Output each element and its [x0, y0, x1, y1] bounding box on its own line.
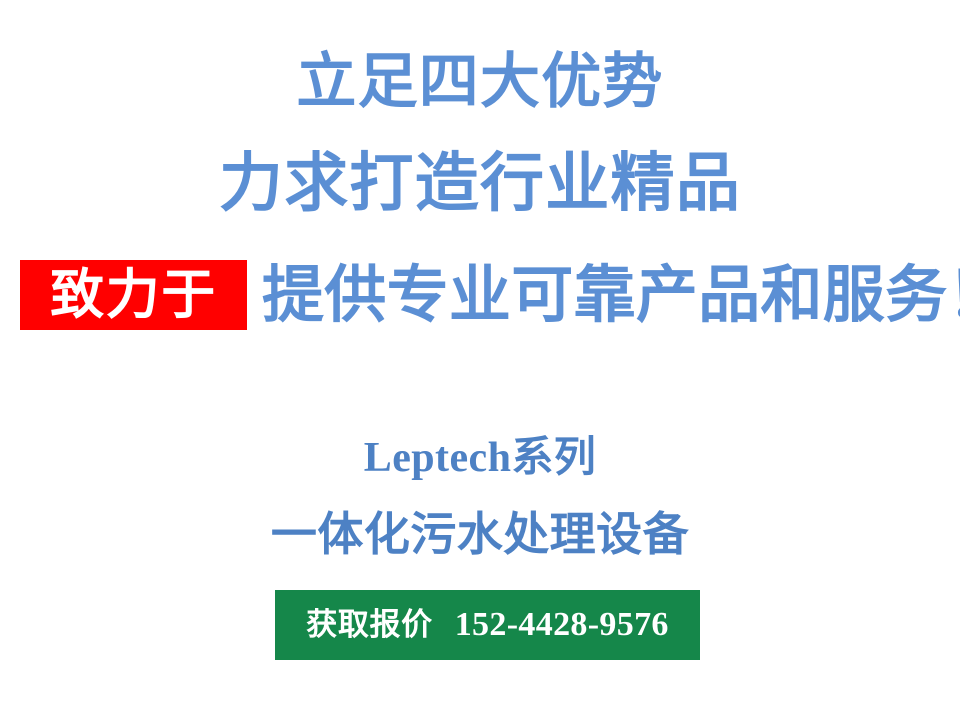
emphasis-text: 提供专业可靠产品和服务！	[262, 264, 960, 326]
emphasis-tag-badge: 致力于	[20, 260, 247, 330]
product-full-name: 一体化污水处理设备	[0, 512, 960, 558]
promo-banner: 立足四大优势 力求打造行业精品 致力于 提供专业可靠产品和服务！ Leptech…	[0, 0, 960, 720]
headline-line-2: 力求打造行业精品	[0, 152, 960, 216]
contact-phone-number[interactable]: 152-4428-9576	[455, 608, 669, 642]
product-series-name: Leptech系列	[0, 437, 960, 479]
get-quote-label: 获取报价	[306, 610, 432, 641]
emphasis-row: 致力于 提供专业可靠产品和服务！	[0, 253, 960, 337]
headline-line-1: 立足四大优势	[0, 52, 960, 112]
get-quote-button[interactable]: 获取报价 152-4428-9576	[275, 590, 700, 660]
